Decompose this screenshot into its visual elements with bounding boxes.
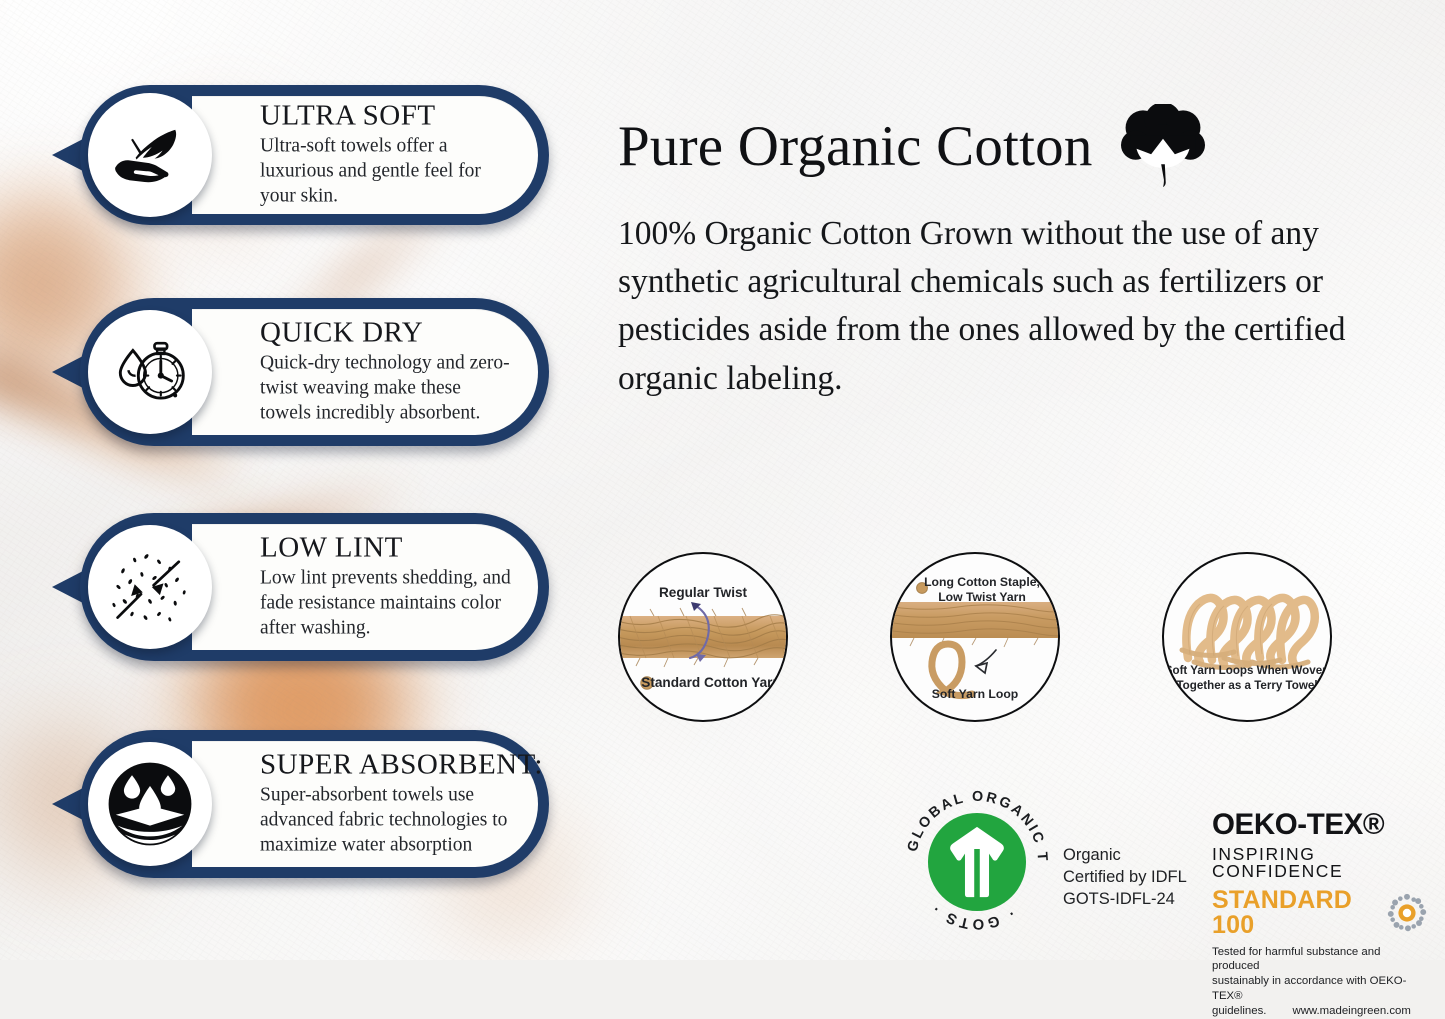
- gots-line-1: Organic: [1063, 845, 1213, 867]
- badge-text-block: QUICK DRY Quick-dry technology and zero-…: [260, 318, 515, 427]
- lint-particles-icon: [88, 525, 212, 649]
- regular-twist-diagram: Regular Twist Standard Cotton Yarn: [618, 552, 788, 722]
- badge-description: Low lint prevents shedding, and fade res…: [260, 565, 515, 641]
- feature-badge-quick-dry[interactable]: QUICK DRY Quick-dry technology and zero-…: [52, 298, 549, 446]
- oeko-tex-url: www.madeingreen.com: [1292, 1004, 1410, 1019]
- diagram-bottom-label-line2: Together as a Terry Towel: [1164, 679, 1330, 693]
- headline-row: Pure Organic Cotton: [618, 104, 1211, 188]
- badge-description: Quick-dry technology and zero-twist weav…: [260, 350, 515, 426]
- diagram-top-label: Regular Twist: [620, 585, 786, 601]
- badge-text-block: LOW LINT Low lint prevents shedding, and…: [260, 533, 515, 642]
- badge-title: ULTRA SOFT: [260, 101, 515, 132]
- diagram-top-label-line1: Long Cotton Staple,: [892, 575, 1058, 589]
- badge-description: Ultra-soft towels offer a luxurious and …: [260, 133, 515, 209]
- page-title: Pure Organic Cotton: [618, 118, 1093, 175]
- feature-badge-super-absorbent[interactable]: SUPER ABSORBENT: Super-absorbent towels …: [52, 730, 549, 878]
- oeko-tex-fineprint: Tested for harmful substance and produce…: [1212, 945, 1428, 1019]
- oeko-tex-fineprint-line-1: Tested for harmful substance and produce…: [1212, 945, 1428, 975]
- gots-certification-logo: GLOBAL ORGANIC TEXTILE STANDARD · GOTS ·: [903, 788, 1051, 936]
- gots-line-3: GOTS-IDFL-24: [1063, 889, 1213, 911]
- low-twist-yarn-diagram: Long Cotton Staple, Low Twist Yarn Soft …: [890, 552, 1060, 722]
- oeko-tex-certification-block: OEKO-TEX® INSPIRING CONFIDENCE STANDARD …: [1212, 810, 1428, 1019]
- terry-towel-loops-diagram: Soft Yarn Loops When Woven Together as a…: [1162, 552, 1332, 722]
- feature-badge-low-lint[interactable]: LOW LINT Low lint prevents shedding, and…: [52, 513, 549, 661]
- body-paragraph: 100% Organic Cotton Grown without the us…: [618, 210, 1418, 403]
- diagram-bottom-label-line1: Soft Yarn Loops When Woven: [1164, 664, 1330, 678]
- feature-badge-ultra-soft[interactable]: ULTRA SOFT Ultra-soft towels offer a lux…: [52, 85, 549, 225]
- badge-title: LOW LINT: [260, 533, 515, 564]
- badge-title: SUPER ABSORBENT:: [260, 750, 515, 781]
- badge-text-block: ULTRA SOFT Ultra-soft towels offer a lux…: [260, 101, 515, 210]
- oeko-tex-fineprint-line-2: sustainably in accordance with OEKO-TEX®: [1212, 974, 1428, 1004]
- hand-feather-icon: [88, 93, 212, 217]
- oeko-tex-standard: STANDARD 100: [1212, 888, 1380, 938]
- badge-text-block: SUPER ABSORBENT: Super-absorbent towels …: [260, 750, 515, 859]
- badge-title: QUICK DRY: [260, 318, 515, 349]
- diagram-bottom-label: Soft Yarn Loop: [892, 687, 1058, 701]
- gots-line-2: Certified by IDFL: [1063, 867, 1213, 889]
- water-absorb-fabric-icon: [88, 742, 212, 866]
- gots-certification-text: Organic Certified by IDFL GOTS-IDFL-24: [1063, 845, 1213, 911]
- diagram-top-label-line2: Low Twist Yarn: [892, 590, 1058, 604]
- oeko-tex-fineprint-line-3: guidelines.: [1212, 1004, 1266, 1019]
- cotton-boll-icon: [1115, 104, 1211, 188]
- diagram-bottom-label: Standard Cotton Yarn: [620, 675, 786, 691]
- oeko-tex-brand: OEKO-TEX®: [1212, 810, 1428, 840]
- made-in-green-icon: [1386, 892, 1428, 934]
- badge-description: Super-absorbent towels use advanced fabr…: [260, 782, 515, 858]
- oeko-tex-tagline: INSPIRING CONFIDENCE: [1212, 846, 1428, 881]
- droplet-stopwatch-icon: [88, 310, 212, 434]
